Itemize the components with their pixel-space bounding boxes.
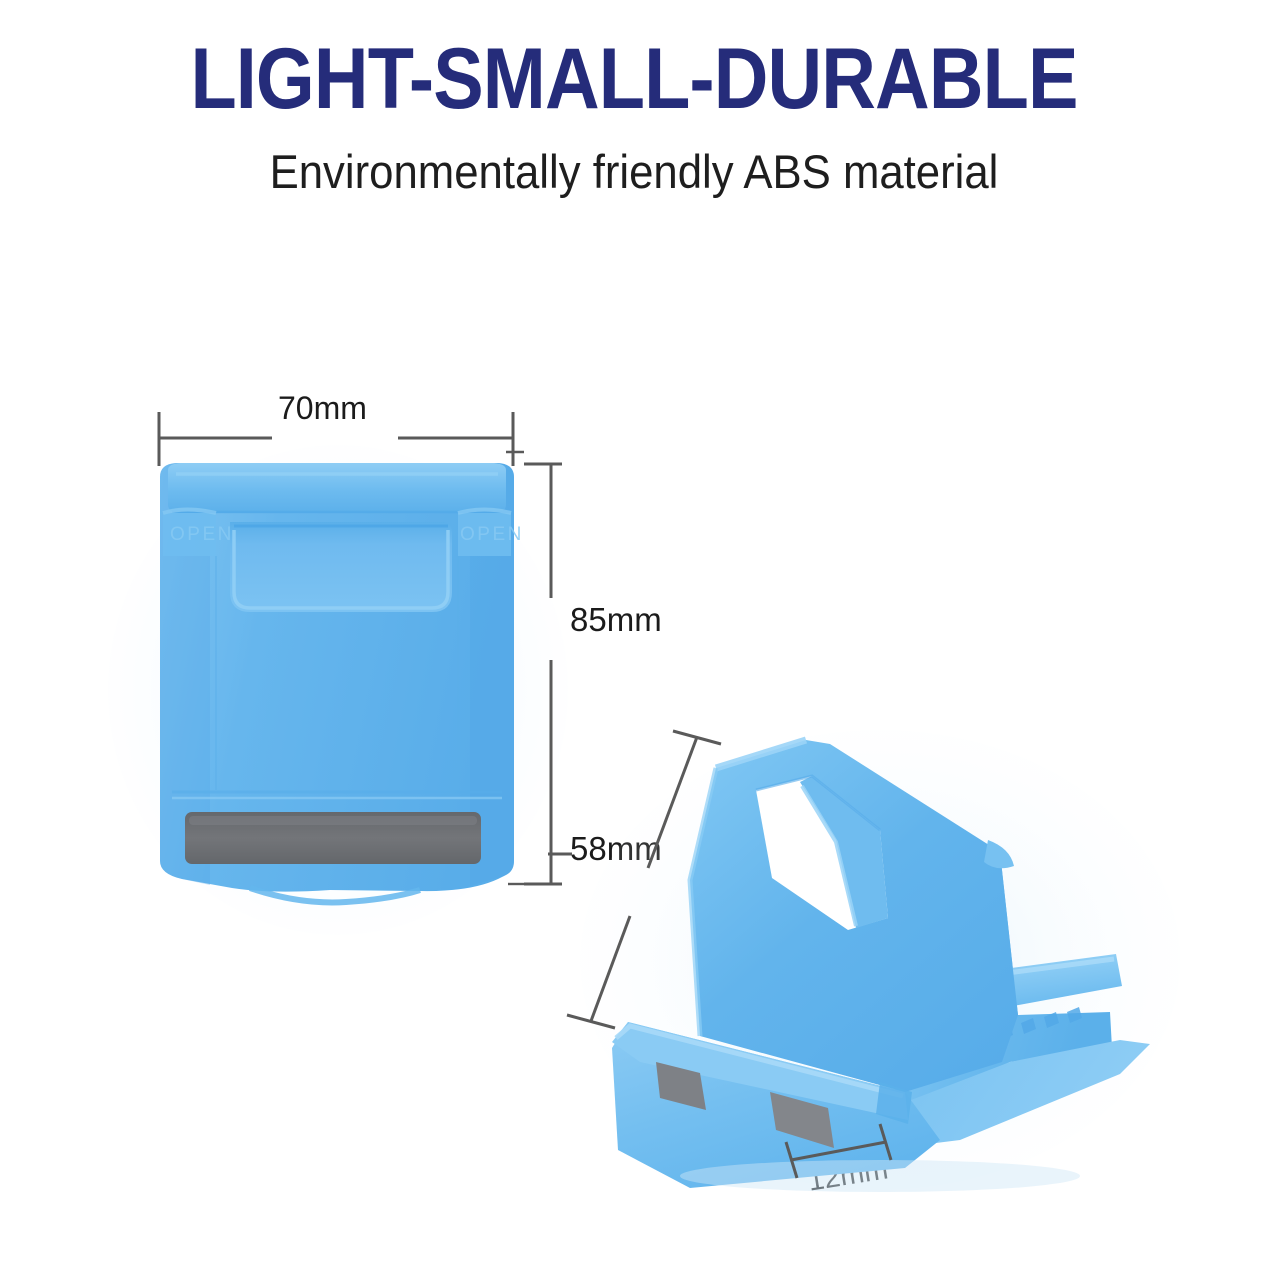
opened-top-hinge-knuckle bbox=[984, 840, 1014, 868]
opened-base-front-lip bbox=[612, 1022, 908, 1120]
opened-stand-halo bbox=[580, 730, 1180, 1190]
opened-handle-cutout bbox=[756, 776, 888, 930]
folded-body bbox=[160, 463, 514, 892]
opened-base-lip-highlight bbox=[616, 1026, 903, 1096]
folded-left-tab bbox=[163, 513, 216, 556]
dimension-label-back-span: 58mm bbox=[570, 832, 662, 865]
dimension-back-span-58mm bbox=[548, 731, 721, 1028]
opened-base-plate bbox=[612, 1022, 940, 1188]
opened-handle-cutout-leg-showthrough bbox=[800, 776, 888, 928]
folded-open-text-right: OPEN bbox=[460, 524, 524, 545]
dimension-label-thickness: 12mm bbox=[806, 1155, 890, 1196]
opened-stand-illustration bbox=[580, 730, 1180, 1192]
opened-front-panel bbox=[690, 740, 1018, 1092]
dimension-label-width: 70mm bbox=[278, 392, 367, 424]
opened-base-pad-right bbox=[770, 1092, 834, 1148]
folded-left-tab-top bbox=[163, 510, 216, 514]
opened-base-right-wing bbox=[880, 1040, 1150, 1150]
opened-base-pad-left bbox=[656, 1062, 706, 1110]
folded-stand-illustration: OPEN OPEN bbox=[108, 445, 568, 935]
dimension-height-85mm bbox=[506, 452, 562, 884]
dimension-12-cap-left bbox=[786, 1142, 797, 1178]
page-title: LIGHT-SMALL-DURABLE bbox=[76, 36, 1192, 122]
folded-rubber-pad-strip bbox=[185, 812, 481, 864]
opened-leg-rail-highlight bbox=[1000, 959, 1114, 974]
opened-front-panel-top-edge bbox=[716, 740, 806, 768]
opened-handle-cutout-inner-highlight bbox=[802, 786, 856, 926]
dimension-58-cap-bottom bbox=[567, 1015, 615, 1028]
dimension-58-line-lower bbox=[591, 916, 630, 1021]
folded-window-recess bbox=[230, 522, 452, 612]
dimension-label-height: 85mm bbox=[570, 603, 662, 636]
page-subtitle: Environmentally friendly ABS material bbox=[44, 148, 1223, 195]
opened-bottom-hinge bbox=[876, 1082, 912, 1124]
infographic-canvas: LIGHT-SMALL-DURABLE Environmentally frie… bbox=[0, 0, 1268, 1268]
folded-right-tab-top bbox=[458, 510, 511, 514]
opened-handle-cutout-rim bbox=[756, 776, 880, 830]
folded-rubber-pad-highlight bbox=[189, 816, 477, 825]
folded-body-right-shade bbox=[470, 463, 514, 886]
folded-stand-halo bbox=[108, 445, 568, 935]
opened-leg-rail bbox=[996, 954, 1122, 1006]
opened-leg-ratchet-notches bbox=[952, 1007, 1082, 1052]
opened-back-leg bbox=[885, 800, 1112, 1112]
folded-right-tab bbox=[458, 513, 511, 556]
folded-window-inner-highlight bbox=[234, 530, 448, 608]
dimension-58-cap-top bbox=[673, 731, 721, 744]
opened-front-panel-left-edge bbox=[690, 768, 716, 1036]
folded-open-text-left: OPEN bbox=[170, 524, 234, 545]
folded-bottom-foot bbox=[250, 888, 420, 902]
folded-top-lip bbox=[168, 463, 506, 513]
folded-body-left-shade bbox=[160, 463, 210, 885]
